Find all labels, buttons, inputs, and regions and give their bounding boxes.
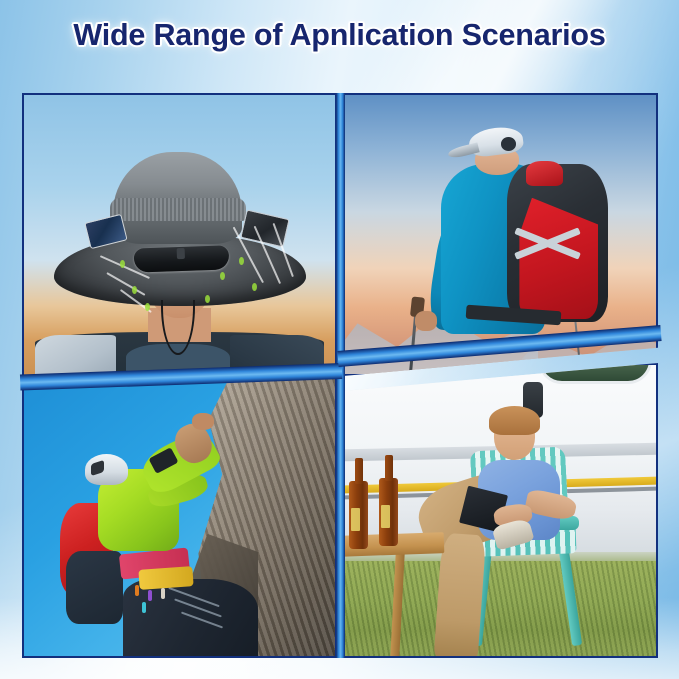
collage-cell-bottom-left[interactable]: [22, 376, 337, 658]
photo-camping-rv: [343, 363, 658, 658]
airflow-particle: [252, 283, 257, 291]
beer-bottle: [349, 481, 368, 549]
page-title: Wide Range of Apnlication Scenarios: [73, 18, 605, 53]
carabiner: [148, 590, 152, 601]
rv-windscreen: [538, 363, 651, 384]
harness-gear-loop: [138, 566, 193, 589]
airflow-particle: [205, 295, 210, 303]
photo-solar-fan-hat: [22, 93, 337, 381]
climber-backpack-lower: [66, 551, 123, 624]
collage-cell-top-right[interactable]: [343, 93, 658, 376]
scenario-collage: [22, 93, 658, 658]
hat-person-vest-left: [35, 335, 117, 381]
collage-cell-top-left[interactable]: [22, 93, 337, 381]
climber-hand-grip: [192, 413, 214, 430]
beer-bottle: [379, 478, 398, 546]
climber-legs: [123, 579, 258, 658]
airflow-particle: [120, 260, 125, 268]
title-container: Wide Range of Apnlication Scenarios: [0, 18, 679, 53]
airflow-particle: [145, 303, 150, 311]
camper-hair: [489, 406, 539, 436]
collage-cell-bottom-right[interactable]: [343, 363, 658, 658]
bucket-hat-mesh-band: [110, 198, 245, 221]
climbing-helmet: [85, 454, 128, 485]
photo-rock-climbing: [22, 376, 337, 658]
carabiner: [142, 602, 146, 613]
carabiner: [135, 585, 139, 596]
hiker-hand: [415, 311, 437, 331]
photo-hiking: [343, 93, 658, 376]
cap-logo-patch: [501, 137, 517, 151]
backpack-top-pocket: [526, 161, 564, 186]
carabiner: [161, 588, 165, 599]
sunglasses: [133, 245, 228, 273]
hat-person-vest-right: [230, 335, 325, 381]
